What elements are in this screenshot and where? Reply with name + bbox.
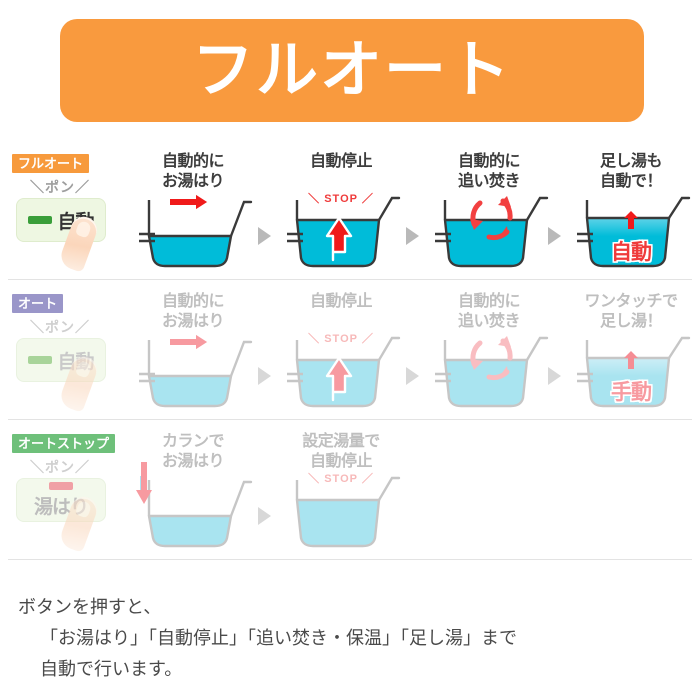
panel-title: 設定湯量で 自動停止 [270,432,412,472]
bathtub-illustration [131,476,257,554]
caption-line-3: 自動で行います。 [18,654,686,685]
panel-title: ワンタッチで 足し湯！ [560,292,700,332]
panel-reheat: 自動的に 追い焚き [418,150,560,290]
up-arrow-icon [325,354,359,402]
row-full-auto: フルオート ＼ポン／ 自動 自動的に お湯はり 自動停止 [0,150,700,290]
row-divider [8,419,692,420]
control-panel-full-auto: フルオート ＼ポン／ 自動 [8,154,116,286]
button-indicator-bar [49,482,73,490]
panel-faucet-fill: カランで お湯はり [122,430,264,570]
stop-badge: ＼ STOP ／ [270,190,412,206]
manual-mode-badge: 手動 [560,376,700,406]
caption-line-1: ボタンを押すと、 [18,592,686,623]
panel-stop-at-set-volume: 設定湯量で 自動停止 ＼ STOP ／ [270,430,412,570]
press-sound-label: ＼ポン／ [8,457,112,477]
press-sound-label: ＼ポン／ [8,317,112,337]
panel-title: 自動的に お湯はり [122,152,264,192]
button-indicator-bar [28,216,52,224]
row-divider [8,559,692,560]
panel-title: 自動的に お湯はり [122,292,264,332]
panel-title: 足し湯も 自動で！ [560,152,700,192]
row-auto-stop: オートストップ ＼ポン／ 湯はり カランで お湯はり [0,430,700,570]
right-arrow-icon [165,192,213,214]
stop-badge: ＼ STOP ／ [270,470,412,486]
row-tag-auto: オート [12,294,63,313]
caption-line-2: 「お湯はり」「自動停止」「追い焚き・保温」「足し湯」まで [18,623,686,654]
bathtub-illustration [427,196,553,274]
row-tag-auto-stop: オートストップ [12,434,115,453]
right-arrow-icon [165,332,213,354]
row-auto: オート ＼ポン／ 自動 自動的に お湯はり 自動停止 [0,290,700,430]
stop-badge: ＼ STOP ／ [270,330,412,346]
press-sound-label: ＼ポン／ [8,177,112,197]
panel-add-hot-water: ワンタッチで 足し湯！ 手動 [560,290,700,430]
auto-mode-badge: 自動 [560,236,700,266]
up-arrow-small-icon [623,210,639,230]
row-divider [8,279,692,280]
bathtub-illustration [279,196,405,274]
circular-arrow-icon [463,188,519,244]
panel-auto-stop: 自動停止 ＼ STOP ／ [270,290,412,430]
up-arrow-icon [325,214,359,262]
control-panel-auto: オート ＼ポン／ 自動 [8,294,116,426]
bathtub-illustration [131,336,257,414]
panel-title: 自動停止 [270,152,412,172]
button-indicator-bar [28,356,52,364]
bathtub-illustration [279,476,405,554]
panel-title: 自動停止 [270,292,412,312]
bathtub-illustration [279,336,405,414]
control-panel-auto-stop: オートストップ ＼ポン／ 湯はり [8,434,116,566]
page-title: フルオート [192,40,512,102]
down-arrow-icon [135,460,153,508]
panel-reheat: 自動的に 追い焚き [418,290,560,430]
up-arrow-small-icon [623,350,639,370]
panel-auto-stop: 自動停止 ＼ STOP ／ [270,150,412,290]
panel-fill-water: 自動的に お湯はり [122,150,264,290]
bathtub-illustration [131,196,257,274]
panel-title: 自動的に 追い焚き [418,152,560,192]
panel-title: 自動的に 追い焚き [418,292,560,332]
panel-fill-water: 自動的に お湯はり [122,290,264,430]
bathtub-illustration [427,336,553,414]
header-banner: フルオート [60,19,644,122]
footer-caption: ボタンを押すと、 「お湯はり」「自動停止」「追い焚き・保温」「足し湯」まで 自動… [18,592,686,685]
circular-arrow-icon [463,328,519,384]
panel-add-hot-water: 足し湯も 自動で！ 自動 [560,150,700,290]
row-tag-full-auto: フルオート [12,154,89,173]
